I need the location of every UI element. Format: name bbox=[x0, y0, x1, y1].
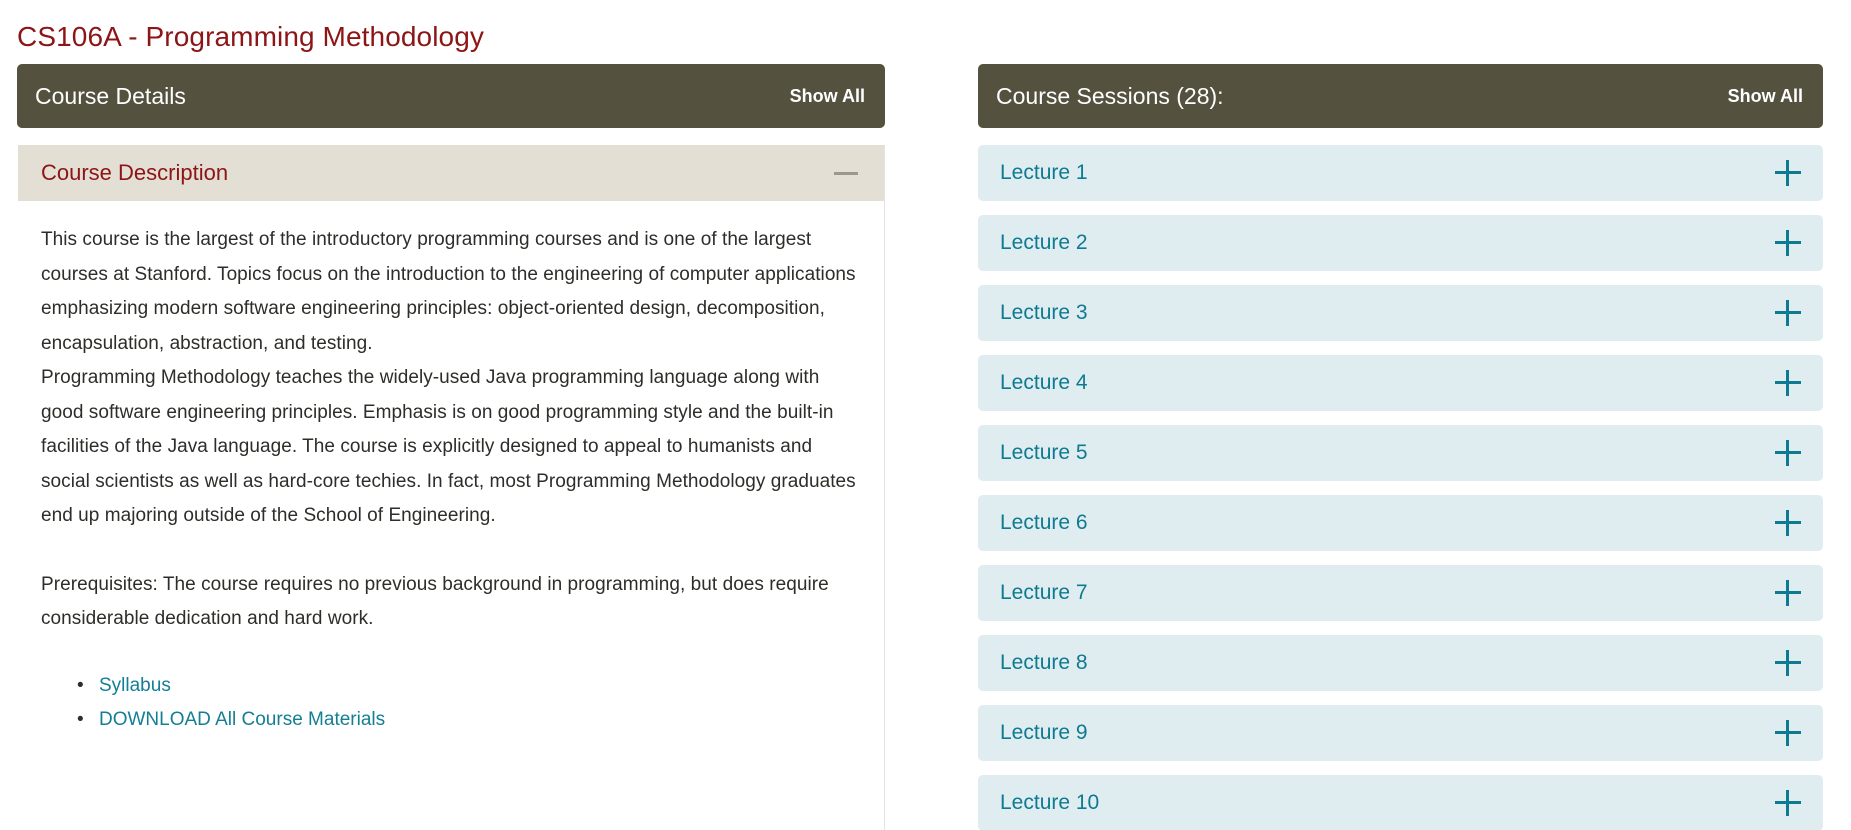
session-label: Lecture 6 bbox=[1000, 510, 1088, 536]
list-item: Syllabus bbox=[99, 669, 858, 704]
sessions-list: Lecture 1Lecture 2Lecture 3Lecture 4Lect… bbox=[978, 145, 1823, 830]
course-resource-links: Syllabus DOWNLOAD All Course Materials bbox=[41, 669, 858, 738]
plus-icon[interactable] bbox=[1775, 300, 1801, 326]
session-label: Lecture 10 bbox=[1000, 790, 1099, 816]
course-details-body: Course Description This course is the la… bbox=[17, 145, 885, 830]
list-item[interactable]: Lecture 7 bbox=[978, 565, 1823, 621]
course-details-show-all-link[interactable]: Show All bbox=[790, 85, 865, 107]
course-description-accordion-header[interactable]: Course Description bbox=[18, 145, 884, 201]
two-column-layout: Course Details Show All Course Descripti… bbox=[0, 64, 1851, 830]
course-sessions-panel: Course Sessions (28): Show All Lecture 1… bbox=[978, 64, 1823, 830]
course-details-header: Course Details Show All bbox=[17, 64, 885, 128]
list-item[interactable]: Lecture 2 bbox=[978, 215, 1823, 271]
session-label: Lecture 5 bbox=[1000, 440, 1088, 466]
list-item: DOWNLOAD All Course Materials bbox=[99, 703, 858, 738]
page-title: CS106A - Programming Methodology bbox=[17, 19, 484, 55]
course-sessions-show-all-link[interactable]: Show All bbox=[1728, 85, 1803, 107]
download-all-course-materials-link[interactable]: DOWNLOAD All Course Materials bbox=[99, 709, 385, 730]
plus-icon[interactable] bbox=[1775, 370, 1801, 396]
session-label: Lecture 9 bbox=[1000, 720, 1088, 746]
plus-icon[interactable] bbox=[1775, 720, 1801, 746]
plus-icon[interactable] bbox=[1775, 650, 1801, 676]
list-item[interactable]: Lecture 3 bbox=[978, 285, 1823, 341]
list-item[interactable]: Lecture 10 bbox=[978, 775, 1823, 830]
course-sessions-header: Course Sessions (28): Show All bbox=[978, 64, 1823, 128]
session-label: Lecture 1 bbox=[1000, 160, 1088, 186]
minus-icon[interactable] bbox=[834, 172, 858, 175]
session-label: Lecture 2 bbox=[1000, 230, 1088, 256]
plus-icon[interactable] bbox=[1775, 510, 1801, 536]
list-item[interactable]: Lecture 9 bbox=[978, 705, 1823, 761]
plus-icon[interactable] bbox=[1775, 230, 1801, 256]
course-description-paragraph-2: Programming Methodology teaches the wide… bbox=[41, 361, 856, 534]
session-label: Lecture 3 bbox=[1000, 300, 1088, 326]
course-prerequisites-paragraph: Prerequisites: The course requires no pr… bbox=[41, 568, 856, 637]
course-details-panel: Course Details Show All Course Descripti… bbox=[17, 64, 885, 830]
course-page: CS106A - Programming Methodology Course … bbox=[0, 0, 1851, 830]
list-item[interactable]: Lecture 4 bbox=[978, 355, 1823, 411]
syllabus-link[interactable]: Syllabus bbox=[99, 675, 171, 696]
course-sessions-title: Course Sessions (28): bbox=[996, 82, 1224, 110]
course-description-content: This course is the largest of the introd… bbox=[18, 201, 884, 748]
list-item[interactable]: Lecture 5 bbox=[978, 425, 1823, 481]
plus-icon[interactable] bbox=[1775, 790, 1801, 816]
session-label: Lecture 8 bbox=[1000, 650, 1088, 676]
session-label: Lecture 7 bbox=[1000, 580, 1088, 606]
plus-icon[interactable] bbox=[1775, 160, 1801, 186]
plus-icon[interactable] bbox=[1775, 440, 1801, 466]
course-description-paragraph-1: This course is the largest of the introd… bbox=[41, 223, 856, 361]
list-item[interactable]: Lecture 8 bbox=[978, 635, 1823, 691]
course-details-title: Course Details bbox=[35, 82, 186, 110]
list-item[interactable]: Lecture 1 bbox=[978, 145, 1823, 201]
plus-icon[interactable] bbox=[1775, 580, 1801, 606]
course-description-title: Course Description bbox=[41, 159, 228, 187]
session-label: Lecture 4 bbox=[1000, 370, 1088, 396]
list-item[interactable]: Lecture 6 bbox=[978, 495, 1823, 551]
